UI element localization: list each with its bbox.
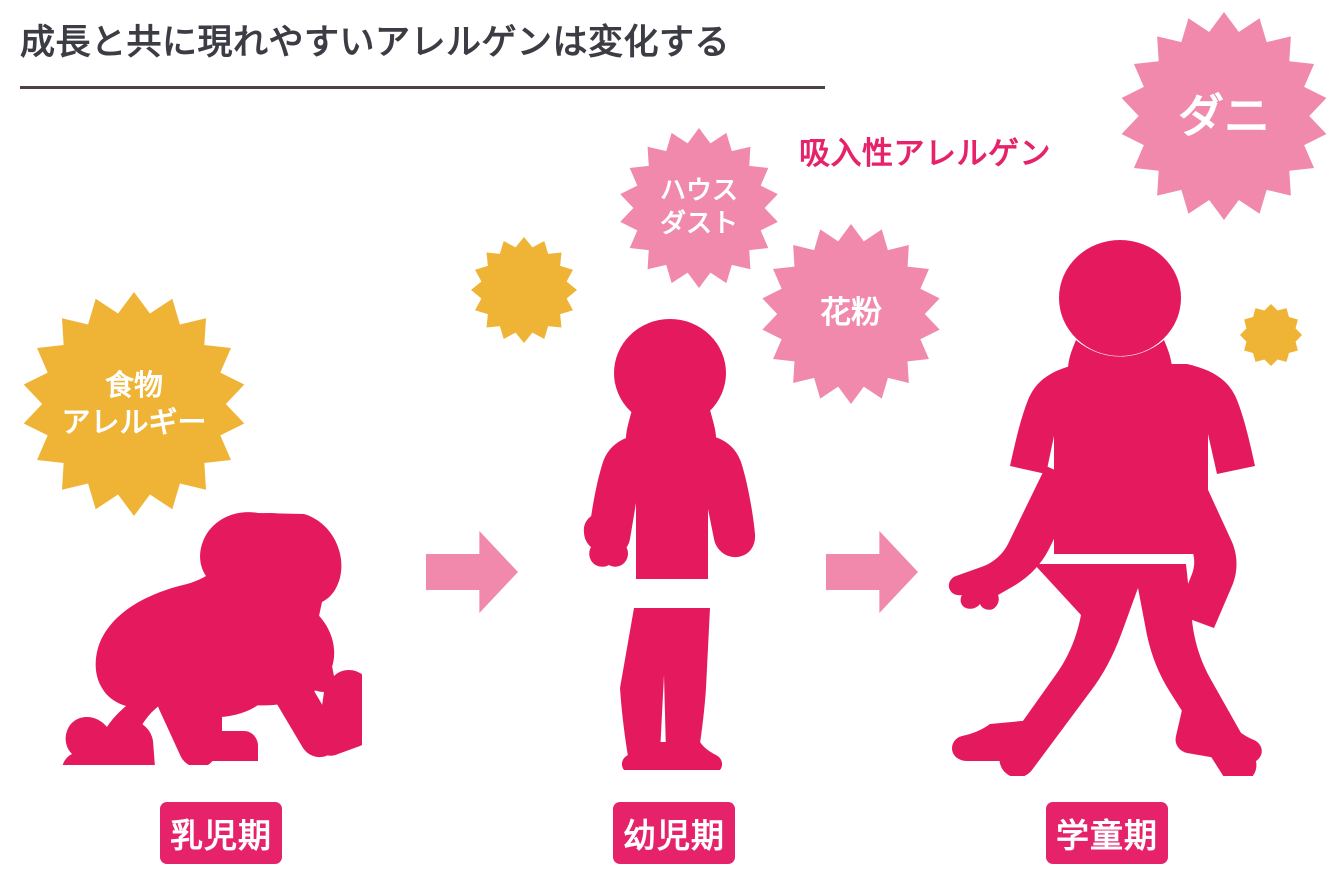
- stage-label-infancy-text: 乳児期: [170, 809, 272, 857]
- allergen-burst-dust-mite-label: ダニ: [1178, 87, 1270, 146]
- silhouette-crawling-baby: [62, 505, 362, 765]
- allergen-burst-dust-mite[interactable]: ダニ: [1120, 12, 1328, 220]
- stage-label-early-childhood-text: 幼児期: [623, 809, 725, 857]
- inhalant-allergen-heading: 吸入性アレルゲン: [799, 128, 1051, 173]
- silhouette-standing-child: [926, 236, 1286, 776]
- stage-label-infancy[interactable]: 乳児期: [160, 802, 282, 864]
- allergen-burst-house-dust-label: ハウス ダスト: [660, 175, 738, 242]
- allergen-burst-food-allergy-label: 食物 アレルギー: [61, 367, 206, 441]
- burst-line-2: ダスト: [660, 208, 738, 241]
- arrow-infancy-to-early-childhood: [426, 531, 518, 613]
- page-title: 成長と共に現れやすいアレルゲンは変化する: [20, 14, 730, 65]
- decorative-burst-yellow-left: [471, 237, 577, 343]
- infographic-canvas: 成長と共に現れやすいアレルゲンは変化する 吸入性アレルゲン 食物 アレルギー ハ…: [0, 0, 1344, 896]
- title-underline: [20, 86, 825, 89]
- silhouette-standing-toddler: [572, 318, 772, 770]
- stage-label-school-age-text: 学童期: [1056, 809, 1158, 857]
- allergen-burst-pollen-label: 花粉: [820, 294, 882, 334]
- allergen-burst-food-allergy[interactable]: 食物 アレルギー: [22, 292, 246, 516]
- allergen-burst-pollen[interactable]: 花粉: [761, 224, 941, 404]
- burst-line-1: ダニ: [1178, 87, 1270, 146]
- burst-line-1: ハウス: [660, 175, 738, 208]
- stage-label-school-age[interactable]: 学童期: [1046, 802, 1168, 864]
- arrow-early-childhood-to-school-age: [826, 531, 918, 613]
- burst-line-1: 食物: [61, 367, 206, 404]
- burst-line-2: アレルギー: [61, 404, 206, 441]
- stage-label-early-childhood[interactable]: 幼児期: [613, 802, 735, 864]
- burst-line-1: 花粉: [820, 294, 882, 334]
- allergen-burst-house-dust[interactable]: ハウス ダスト: [619, 128, 779, 288]
